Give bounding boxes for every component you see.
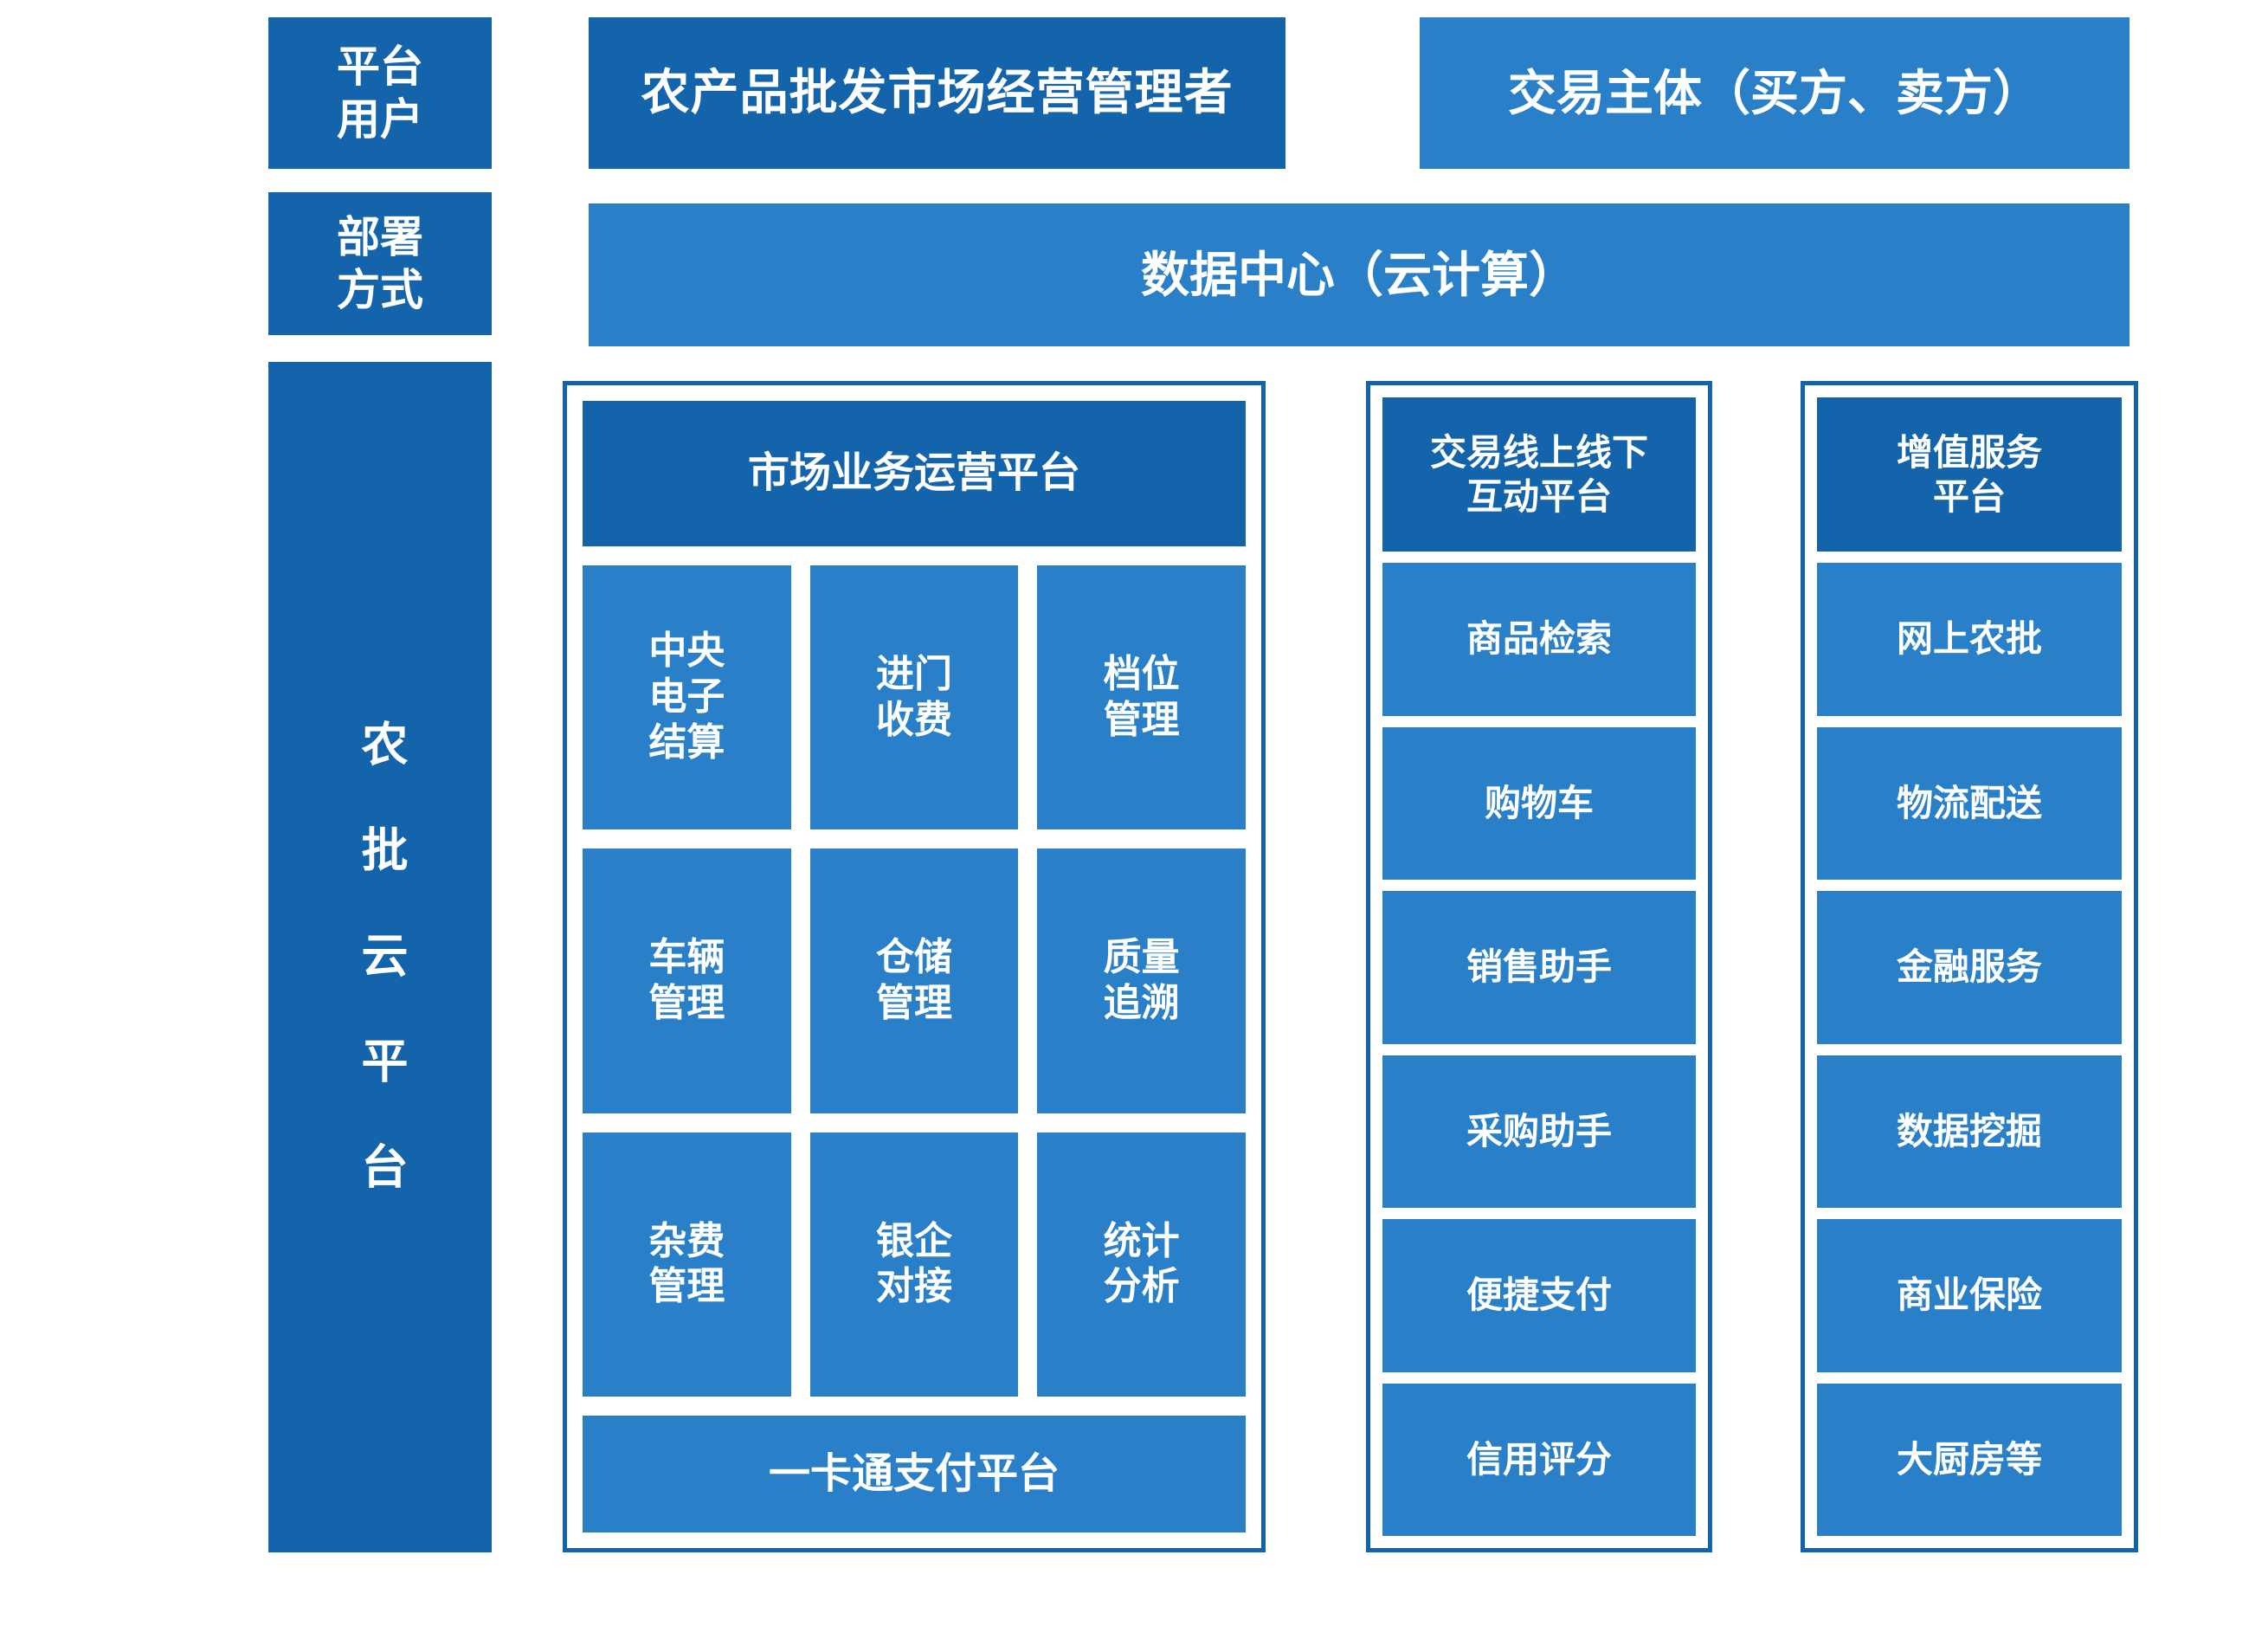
item-commercial-insurance[interactable]: 商业保险 [1817, 1219, 2122, 1372]
trade-interaction-item-list: 商品检索 购物车 销售助手 采购助手 便捷支付 信用评分 [1382, 563, 1696, 1536]
item-online-agri-wholesale[interactable]: 网上农批 [1817, 563, 2122, 716]
box-market-operator[interactable]: 农产品批发市场经营管理者 [589, 17, 1285, 169]
header-market-operations-platform[interactable]: 市场业务运营平台 [583, 401, 1246, 546]
module-vehicle-management[interactable]: 车辆管理 [583, 848, 791, 1113]
item-sales-assistant[interactable]: 销售助手 [1382, 891, 1696, 1044]
module-misc-fee-management[interactable]: 杂费管理 [583, 1132, 791, 1397]
module-central-electronic-settlement[interactable]: 中央电子结算 [583, 565, 791, 829]
item-convenient-payment[interactable]: 便捷支付 [1382, 1219, 1696, 1372]
box-data-center-cloud[interactable]: 数据中心（云计算） [589, 203, 2129, 346]
row-label-agri-cloud-platform-text: 农批云平台 [357, 668, 403, 1248]
item-logistics-delivery[interactable]: 物流配送 [1817, 727, 2122, 881]
row-label-agri-cloud-platform: 农批云平台 [268, 362, 492, 1552]
header-trade-interaction-platform[interactable]: 交易线上线下互动平台 [1382, 397, 1696, 552]
module-warehouse-management[interactable]: 仓储管理 [810, 848, 1019, 1113]
item-data-mining[interactable]: 数据挖掘 [1817, 1055, 2122, 1209]
item-financial-services[interactable]: 金融服务 [1817, 891, 2122, 1044]
panel-trade-interaction: 交易线上线下互动平台 商品检索 购物车 销售助手 采购助手 便捷支付 信用评分 [1366, 381, 1712, 1552]
item-credit-score[interactable]: 信用评分 [1382, 1384, 1696, 1537]
item-purchasing-assistant[interactable]: 采购助手 [1382, 1055, 1696, 1209]
header-value-added-service-platform[interactable]: 增值服务平台 [1817, 397, 2122, 552]
row-label-deployment-mode: 部署方式 [268, 192, 492, 335]
diagram-canvas: 平台用户 部署方式 农批云平台 农产品批发市场经营管理者 交易主体（买方、卖方）… [0, 0, 2268, 1626]
panel-value-added-services: 增值服务平台 网上农批 物流配送 金融服务 数据挖掘 商业保险 大厨房等 [1801, 381, 2138, 1552]
footer-one-card-payment-platform[interactable]: 一卡通支付平台 [583, 1416, 1246, 1532]
item-product-search[interactable]: 商品检索 [1382, 563, 1696, 716]
item-central-kitchen-etc[interactable]: 大厨房等 [1817, 1384, 2122, 1537]
module-entrance-fee[interactable]: 进门收费 [810, 565, 1019, 829]
item-shopping-cart[interactable]: 购物车 [1382, 727, 1696, 881]
value-added-item-list: 网上农批 物流配送 金融服务 数据挖掘 商业保险 大厨房等 [1817, 563, 2122, 1536]
market-module-grid: 中央电子结算 进门收费 档位管理 车辆管理 仓储管理 质量追溯 杂费管理 银企对… [583, 565, 1246, 1397]
module-quality-traceability[interactable]: 质量追溯 [1037, 848, 1246, 1113]
panel-market-operations: 市场业务运营平台 中央电子结算 进门收费 档位管理 车辆管理 仓储管理 质量追溯… [563, 381, 1266, 1552]
module-statistical-analysis[interactable]: 统计分析 [1037, 1132, 1246, 1397]
box-trading-entities[interactable]: 交易主体（买方、卖方） [1420, 17, 2129, 169]
module-bank-enterprise-integration[interactable]: 银企对接 [810, 1132, 1019, 1397]
module-stall-management[interactable]: 档位管理 [1037, 565, 1246, 829]
row-label-platform-users: 平台用户 [268, 17, 492, 169]
